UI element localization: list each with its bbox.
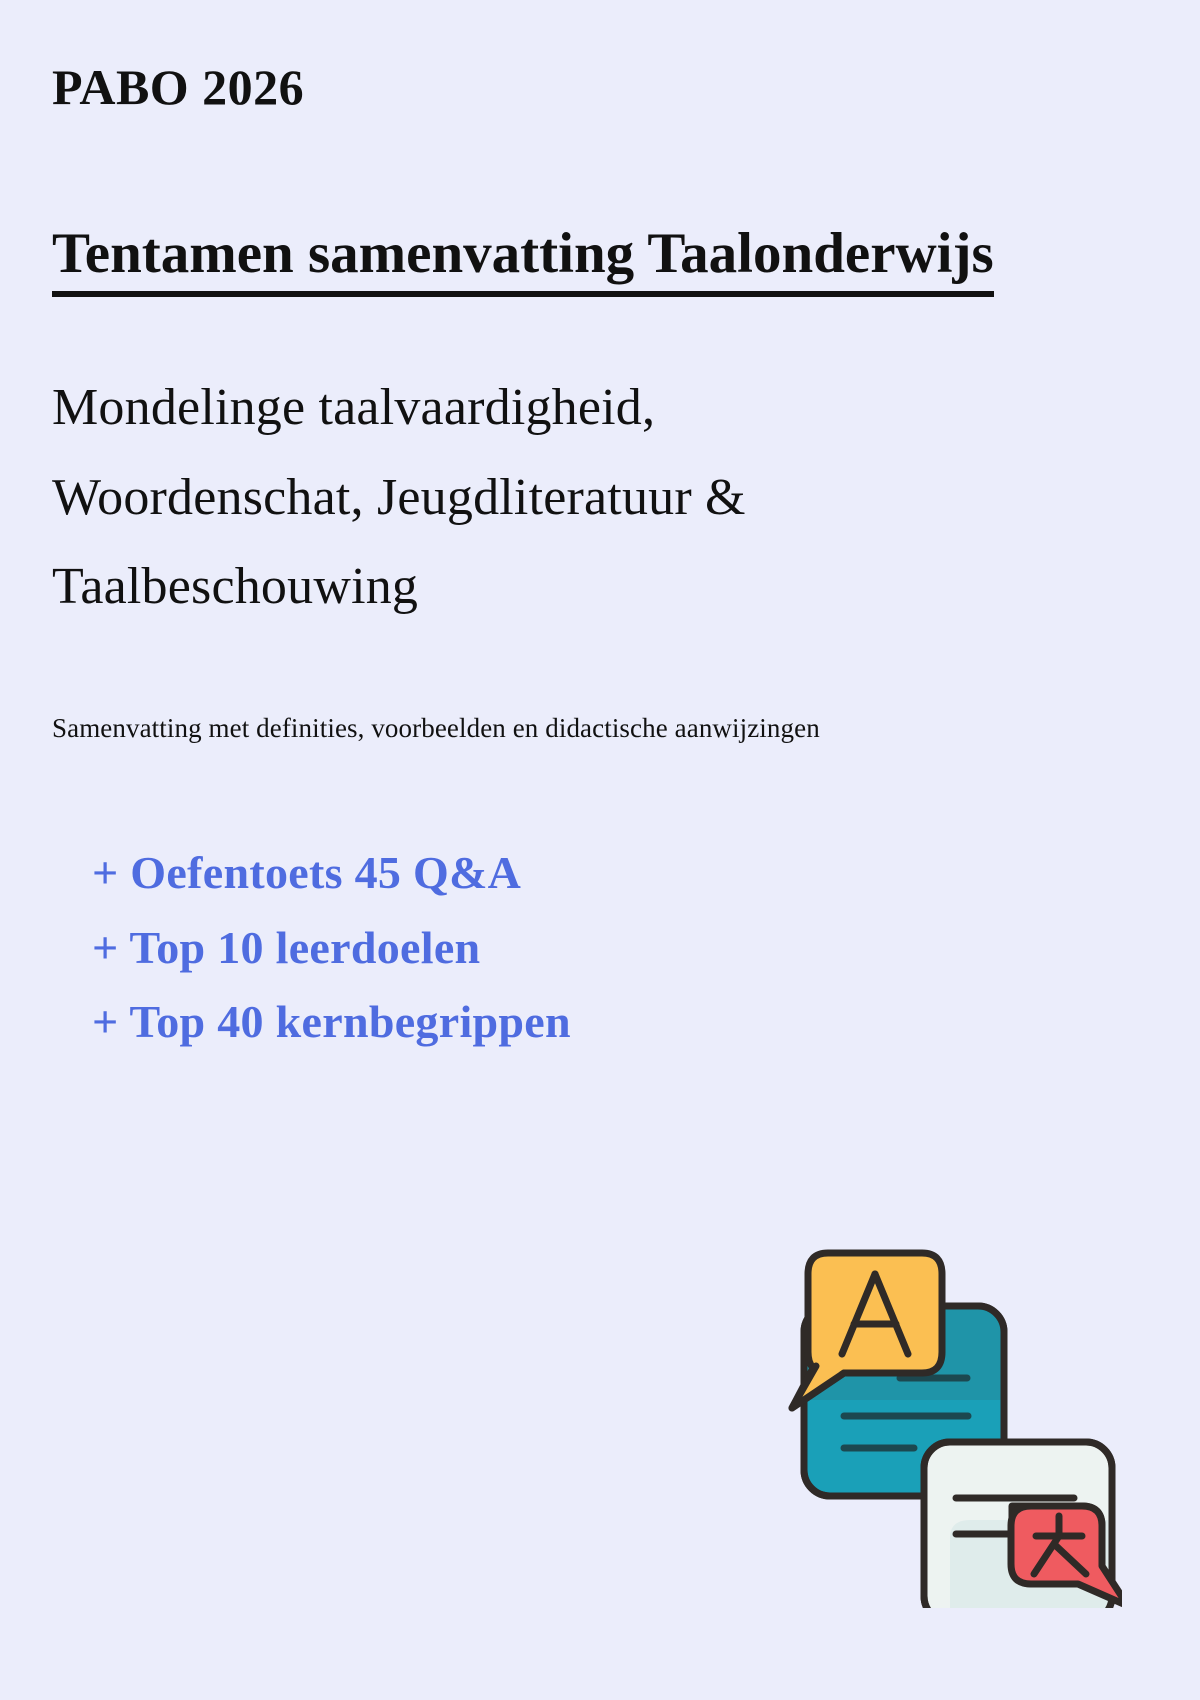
document-kicker: PABO 2026 (52, 52, 1144, 115)
page-title-underlined-text: Tentamen samenvatting Taalonderwijs (52, 221, 994, 297)
feature-list: + Oefentoets 45 Q&A + Top 10 leerdoelen … (52, 748, 1144, 1060)
list-item: + Top 40 kernbegrippen (92, 985, 1144, 1060)
document-subtitle: Mondelinge taalvaardigheid, Woordenschat… (52, 297, 912, 633)
document-description: Samenvatting met definities, voorbeelden… (52, 632, 1144, 748)
list-item: + Oefentoets 45 Q&A (92, 836, 1144, 911)
page-title: Tentamen samenvatting Taalonderwijs (52, 115, 1144, 297)
list-item: + Top 10 leerdoelen (92, 911, 1144, 986)
language-chat-bubbles-illustration (782, 1248, 1122, 1608)
document-page: PABO 2026 Tentamen samenvatting Taalonde… (0, 0, 1200, 1700)
